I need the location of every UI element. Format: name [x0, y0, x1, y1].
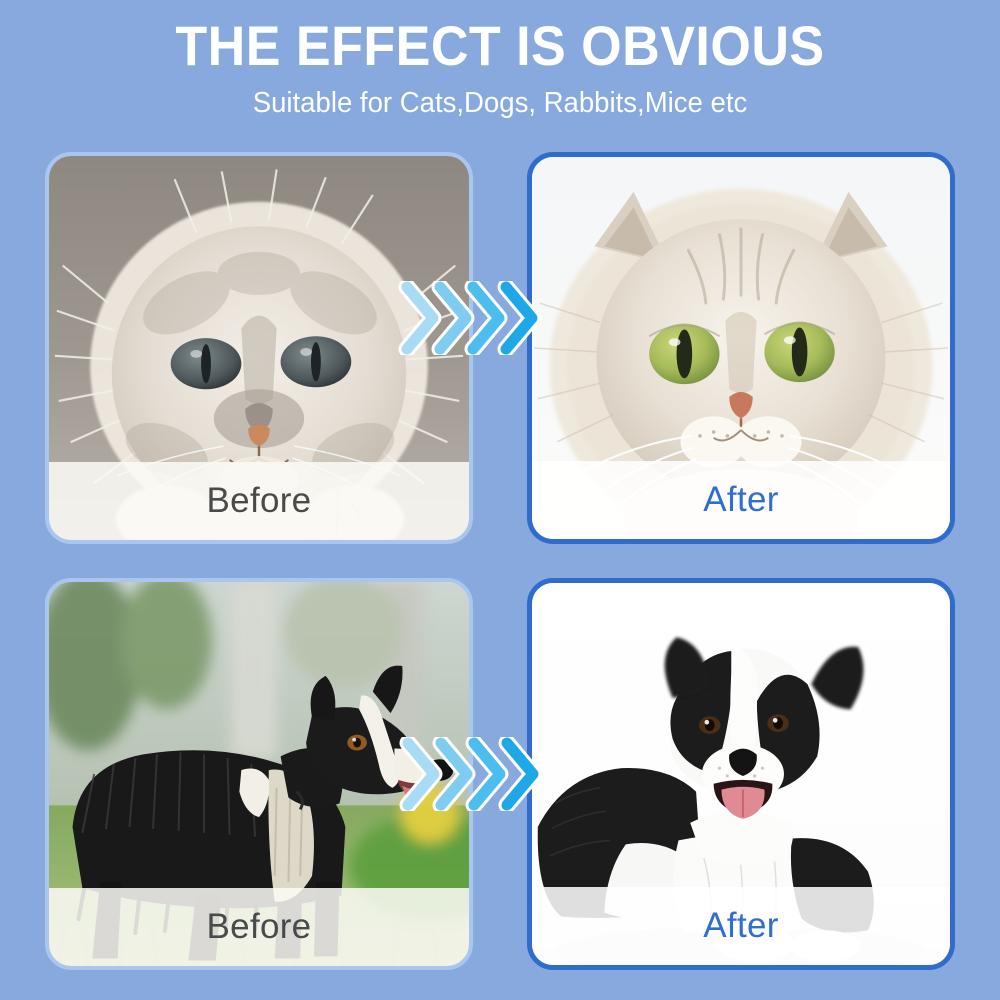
- panel-cat-after[interactable]: After: [527, 152, 955, 544]
- panel-caption-cat-before: Before: [49, 462, 469, 540]
- panel-dog-after[interactable]: After: [527, 578, 955, 970]
- header: THE EFFECT IS OBVIOUS Suitable for Cats,…: [0, 0, 1000, 140]
- panel-dog-before[interactable]: Before: [45, 578, 473, 970]
- page-title: THE EFFECT IS OBVIOUS: [35, 16, 965, 76]
- panel-caption-cat-after: After: [532, 461, 950, 539]
- page-subtitle: Suitable for Cats,Dogs, Rabbits,Mice etc: [25, 86, 975, 120]
- panel-caption-dog-before: Before: [49, 888, 469, 966]
- poster-root: THE EFFECT IS OBVIOUS Suitable for Cats,…: [0, 0, 1000, 1000]
- comparison-grid: Before: [45, 152, 955, 970]
- panel-cat-before[interactable]: Before: [45, 152, 473, 544]
- panel-caption-dog-after: After: [532, 887, 950, 965]
